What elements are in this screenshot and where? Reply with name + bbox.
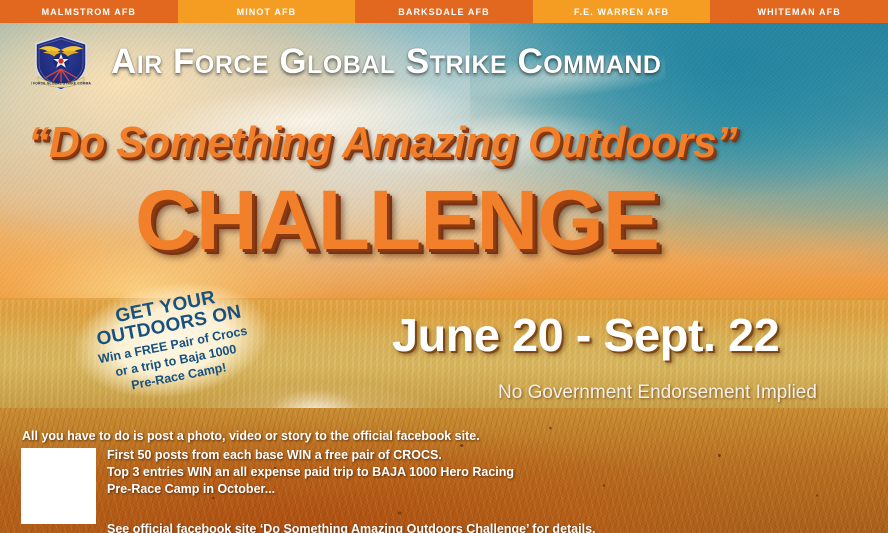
date-range: June 20 - Sept. 22 [392, 308, 779, 362]
base-bar-item-4[interactable]: WHITEMAN AFB [710, 0, 888, 23]
base-bar-item-label: BARKSDALE AFB [398, 7, 489, 17]
base-bar-item-2[interactable]: BARKSDALE AFB [355, 0, 533, 23]
info-line-4: See official facebook site ‘Do Something… [107, 522, 596, 533]
info-line-2: Top 3 entries WIN an all expense paid tr… [107, 465, 514, 479]
svg-text:AIR FORCE GLOBAL STRIKE COMMAN: AIR FORCE GLOBAL STRIKE COMMAND [31, 81, 91, 85]
headline-challenge: CHALLENGE [135, 178, 659, 262]
info-line-group: First 50 posts from each base WIN a free… [107, 448, 514, 496]
base-bar-item-0[interactable]: MALMSTROM AFB [0, 0, 178, 23]
endorsement-disclaimer: No Government Endorsement Implied [498, 382, 817, 404]
base-bar-item-label: MINOT AFB [237, 7, 297, 17]
info-line-1: First 50 posts from each base WIN a free… [107, 448, 514, 462]
qr-code-icon[interactable] [21, 448, 96, 524]
base-bar-item-3[interactable]: F.E. WARREN AFB [533, 0, 711, 23]
promo-splash-badge: GET YOUR OUTDOORS ON Win a FREE Pair of … [62, 276, 282, 406]
command-title: Air Force Global Strike Command [111, 42, 661, 82]
afgsc-challenge-poster: MALMSTROM AFBMINOT AFBBARKSDALE AFBF.E. … [0, 0, 888, 533]
base-bar-item-label: MALMSTROM AFB [42, 7, 136, 17]
base-bar-item-label: WHITEMAN AFB [757, 7, 840, 17]
info-line-3: Pre-Race Camp in October... [107, 482, 514, 496]
contest-info-block: All you have to do is post a photo, vide… [0, 424, 888, 533]
splash-text-group: GET YOUR OUTDOORS ON Win a FREE Pair of … [52, 256, 293, 426]
air-force-global-strike-command-seal-icon: AIR FORCE GLOBAL STRIKE COMMAND [31, 34, 91, 92]
base-bar: MALMSTROM AFBMINOT AFBBARKSDALE AFBF.E. … [0, 0, 888, 23]
base-bar-item-1[interactable]: MINOT AFB [178, 0, 356, 23]
base-bar-item-label: F.E. WARREN AFB [574, 7, 669, 17]
headline-quote: “Do Something Amazing Outdoors” [28, 118, 737, 168]
info-line-0: All you have to do is post a photo, vide… [22, 429, 480, 443]
